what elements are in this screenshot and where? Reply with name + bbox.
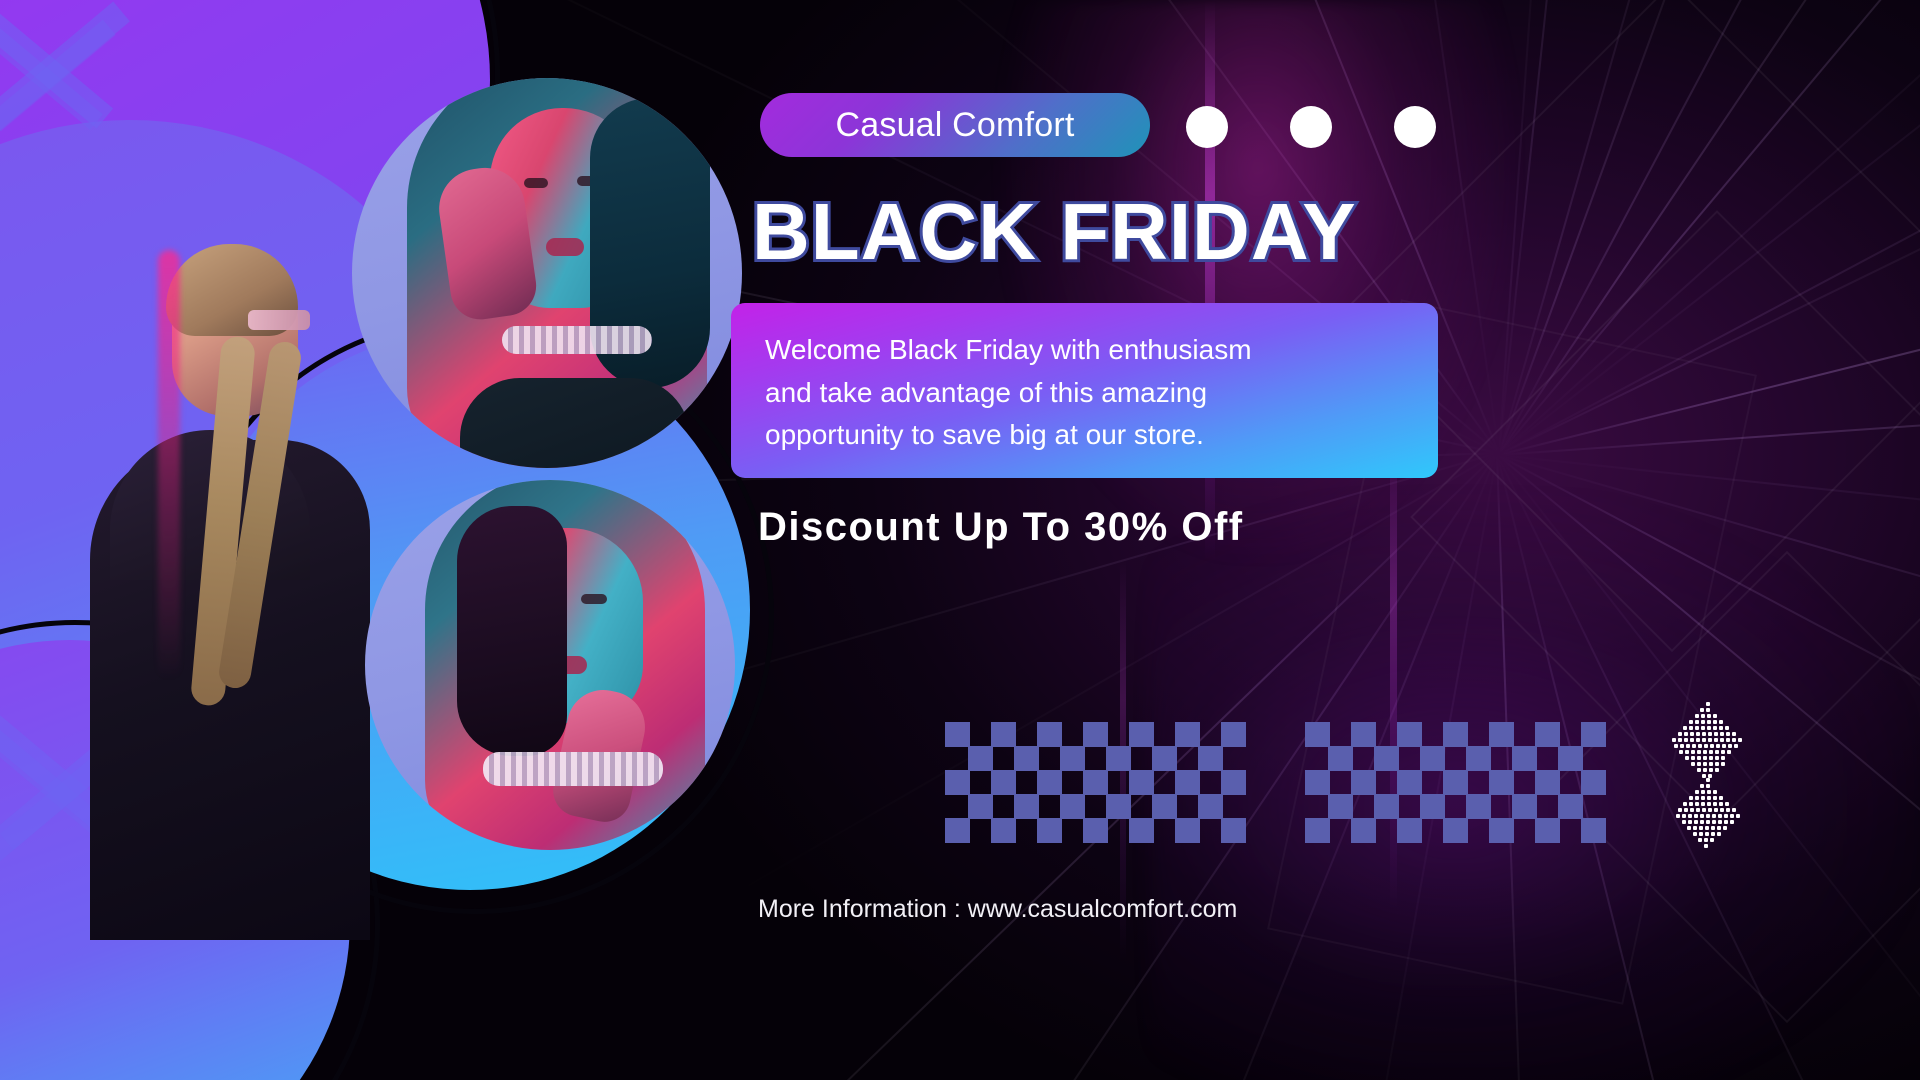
- diamond-dot: [1730, 814, 1734, 818]
- checker-square: [1581, 818, 1606, 843]
- diamond-dot: [1720, 732, 1724, 736]
- checker-square: [1014, 746, 1039, 771]
- diamond-dot: [1711, 826, 1715, 830]
- checker-square: [1443, 818, 1468, 843]
- diamond-dot: [1732, 808, 1736, 812]
- diamond-dot: [1710, 838, 1714, 842]
- diamond-dot: [1686, 744, 1690, 748]
- diamond-dot: [1726, 738, 1730, 742]
- diamond-dot: [1727, 750, 1731, 754]
- checker-square: [1305, 818, 1330, 843]
- diamond-dot: [1726, 732, 1730, 736]
- brand-pill[interactable]: Casual Comfort: [760, 93, 1150, 157]
- diamond-dot: [1696, 732, 1700, 736]
- footer-more-information: More Information : www.casualcomfort.com: [758, 895, 1237, 924]
- diamond-dot: [1701, 720, 1705, 724]
- diamond-dot: [1719, 720, 1723, 724]
- diamond-dot: [1717, 832, 1721, 836]
- diamond-dot: [1715, 762, 1719, 766]
- diamond-dot: [1687, 826, 1691, 830]
- checker-square: [1037, 818, 1062, 843]
- model-portrait-bottom: [365, 480, 735, 850]
- dotted-diamond-icon: [1668, 700, 1748, 840]
- diamond-dot: [1692, 744, 1696, 748]
- checker-square: [1581, 770, 1606, 795]
- model-photo-hoodie: [80, 240, 410, 940]
- diamond-dot: [1724, 814, 1728, 818]
- checker-square: [1106, 794, 1131, 819]
- diamond-dot: [1713, 714, 1717, 718]
- dot-2: [1290, 106, 1332, 148]
- diamond-dot: [1721, 762, 1725, 766]
- checker-square: [991, 770, 1016, 795]
- checker-square: [1305, 770, 1330, 795]
- diamond-dot: [1684, 738, 1688, 742]
- diamond-dot: [1697, 768, 1701, 772]
- diamond-dot: [1695, 790, 1699, 794]
- brand-label: Casual Comfort: [836, 106, 1075, 145]
- checker-square: [991, 818, 1016, 843]
- checker-square: [968, 794, 993, 819]
- diamond-dot: [1682, 814, 1686, 818]
- diamond-dot: [1684, 808, 1688, 812]
- checker-square: [1129, 818, 1154, 843]
- diamond-dot: [1689, 726, 1693, 730]
- diamond-dot: [1719, 802, 1723, 806]
- checker-square: [1083, 818, 1108, 843]
- diamond-dot: [1674, 744, 1678, 748]
- diamond-dot: [1694, 820, 1698, 824]
- checker-square: [1037, 770, 1062, 795]
- checker-square: [1512, 746, 1537, 771]
- diamond-dot: [1719, 796, 1723, 800]
- diamond-dot: [1683, 726, 1687, 730]
- checker-square: [1397, 818, 1422, 843]
- diamond-dot: [1707, 802, 1711, 806]
- diamond-dot: [1690, 738, 1694, 742]
- checker-square: [1152, 794, 1177, 819]
- diamond-dot: [1715, 768, 1719, 772]
- diamond-dot: [1689, 802, 1693, 806]
- diamond-dot: [1703, 768, 1707, 772]
- checker-square: [1420, 746, 1445, 771]
- diamond-dot: [1713, 720, 1717, 724]
- description-line-2: and take advantage of this amazing: [765, 372, 1404, 415]
- diamond-dot: [1701, 726, 1705, 730]
- checker-square: [1489, 818, 1514, 843]
- diamond-dot: [1732, 732, 1736, 736]
- checker-square: [1489, 722, 1514, 747]
- checker-square: [1351, 722, 1376, 747]
- diamond-dot: [1691, 756, 1695, 760]
- diamond-dot: [1715, 750, 1719, 754]
- checkerboard-pattern-left: [945, 722, 1275, 842]
- checker-square: [1397, 770, 1422, 795]
- diamond-dot: [1721, 756, 1725, 760]
- checker-square: [1198, 794, 1223, 819]
- description-line-1: Welcome Black Friday with enthusiasm: [765, 329, 1404, 372]
- checker-square: [1129, 722, 1154, 747]
- diamond-dot: [1703, 756, 1707, 760]
- checker-square: [1466, 746, 1491, 771]
- checker-square: [1129, 770, 1154, 795]
- diamond-dot: [1705, 832, 1709, 836]
- diamond-dot: [1701, 790, 1705, 794]
- diamond-dot: [1708, 808, 1712, 812]
- diamond-dot: [1720, 738, 1724, 742]
- diamond-dot: [1726, 808, 1730, 812]
- diamond-dot: [1702, 732, 1706, 736]
- diamond-dot: [1689, 720, 1693, 724]
- diamond-dot: [1697, 762, 1701, 766]
- diamond-dot: [1701, 802, 1705, 806]
- diamond-dot: [1725, 726, 1729, 730]
- diamond-dot: [1703, 762, 1707, 766]
- diamond-dot: [1688, 820, 1692, 824]
- diamond-dot: [1707, 720, 1711, 724]
- diamond-dot: [1738, 738, 1742, 742]
- diamond-dot: [1707, 726, 1711, 730]
- diamond-dot: [1695, 720, 1699, 724]
- diamond-dot: [1709, 762, 1713, 766]
- checker-square: [1083, 722, 1108, 747]
- checker-square: [968, 746, 993, 771]
- diamond-dot: [1691, 762, 1695, 766]
- diamond-dot: [1683, 802, 1687, 806]
- diamond-dot: [1730, 820, 1734, 824]
- chevron-arrow-icon: [0, 0, 220, 210]
- diamond-dot: [1679, 750, 1683, 754]
- diamond-dot: [1694, 814, 1698, 818]
- diamond-dot: [1706, 814, 1710, 818]
- diamond-dot: [1736, 814, 1740, 818]
- dot-decoration: [1186, 106, 1436, 148]
- diamond-dot: [1720, 808, 1724, 812]
- diamond-dot: [1715, 756, 1719, 760]
- diamond-dot: [1690, 732, 1694, 736]
- diamond-dot: [1721, 750, 1725, 754]
- checker-square: [1221, 722, 1246, 747]
- checker-square: [1014, 794, 1039, 819]
- diamond-dot: [1717, 826, 1721, 830]
- checker-square: [1305, 722, 1330, 747]
- checker-square: [1397, 722, 1422, 747]
- diamond-dot: [1712, 820, 1716, 824]
- checker-square: [1152, 746, 1177, 771]
- diamond-dot: [1723, 826, 1727, 830]
- diamond-dot: [1707, 714, 1711, 718]
- diamond-dot: [1678, 732, 1682, 736]
- diamond-dot: [1706, 784, 1710, 788]
- diamond-dot: [1709, 768, 1713, 772]
- diamond-dot: [1691, 750, 1695, 754]
- diamond-dot: [1689, 796, 1693, 800]
- diamond-dot: [1698, 838, 1702, 842]
- checker-square: [1558, 746, 1583, 771]
- headline-text: BLACK FRIDAY: [752, 187, 1357, 276]
- diamond-dot: [1714, 732, 1718, 736]
- diamond-dot: [1701, 714, 1705, 718]
- diamond-dot: [1711, 832, 1715, 836]
- diamond-dot: [1695, 726, 1699, 730]
- checker-square: [1558, 794, 1583, 819]
- diamond-dot: [1685, 756, 1689, 760]
- diamond-dot: [1728, 744, 1732, 748]
- checker-square: [1175, 818, 1200, 843]
- diamond-dot: [1708, 732, 1712, 736]
- diamond-dot: [1713, 796, 1717, 800]
- diamond-dot: [1695, 802, 1699, 806]
- diamond-dot: [1672, 738, 1676, 742]
- diamond-dot: [1704, 844, 1708, 848]
- diamond-dot: [1682, 820, 1686, 824]
- diamond-dot: [1714, 808, 1718, 812]
- diamond-dot: [1716, 744, 1720, 748]
- checker-square: [1060, 746, 1085, 771]
- checker-square: [1328, 746, 1353, 771]
- checker-square: [1221, 770, 1246, 795]
- checker-square: [1535, 818, 1560, 843]
- diamond-dot: [1706, 820, 1710, 824]
- checker-square: [945, 770, 970, 795]
- diamond-dot: [1701, 796, 1705, 800]
- diamond-dot: [1676, 814, 1680, 818]
- diamond-dot: [1724, 820, 1728, 824]
- diamond-dot: [1703, 750, 1707, 754]
- diamond-dot: [1725, 802, 1729, 806]
- diamond-dot: [1697, 750, 1701, 754]
- diamond-dot: [1700, 708, 1704, 712]
- black-friday-promo-banner: Casual Comfort BLACK FRIDAY Welcome Blac…: [0, 0, 1920, 1080]
- diamond-dot: [1685, 750, 1689, 754]
- checkerboard-pattern-right: [1305, 722, 1635, 842]
- checker-square: [1374, 794, 1399, 819]
- diamond-dot: [1696, 808, 1700, 812]
- diamond-dot: [1713, 726, 1717, 730]
- diamond-dot: [1678, 738, 1682, 742]
- diamond-dot: [1700, 814, 1704, 818]
- diamond-dot: [1684, 732, 1688, 736]
- diamond-dot: [1699, 826, 1703, 830]
- diamond-dot: [1706, 778, 1710, 782]
- diamond-dot: [1713, 802, 1717, 806]
- checker-square: [1443, 722, 1468, 747]
- diamond-dot: [1702, 738, 1706, 742]
- checker-square: [945, 722, 970, 747]
- checker-square: [1581, 722, 1606, 747]
- diamond-dot: [1705, 826, 1709, 830]
- diamond-dot: [1734, 744, 1738, 748]
- checker-square: [1060, 794, 1085, 819]
- diamond-dot: [1709, 750, 1713, 754]
- checker-square: [1443, 770, 1468, 795]
- checker-square: [1106, 746, 1131, 771]
- description-card: Welcome Black Friday with enthusiasm and…: [731, 303, 1438, 478]
- checker-square: [1328, 794, 1353, 819]
- diamond-dot: [1710, 744, 1714, 748]
- diamond-dot: [1718, 820, 1722, 824]
- model-portrait-top: [352, 78, 742, 468]
- checker-square: [1351, 818, 1376, 843]
- checker-square: [1221, 818, 1246, 843]
- diamond-dot: [1704, 838, 1708, 842]
- page-title: BLACK FRIDAY: [752, 186, 1452, 270]
- diamond-dot: [1698, 744, 1702, 748]
- checker-square: [1351, 770, 1376, 795]
- diamond-dot: [1713, 790, 1717, 794]
- discount-headline: Discount Up To 30% Off: [758, 505, 1244, 550]
- diamond-dot: [1722, 744, 1726, 748]
- diamond-dot: [1693, 826, 1697, 830]
- diamond-dot: [1700, 784, 1704, 788]
- checker-square: [1037, 722, 1062, 747]
- diamond-dot: [1700, 820, 1704, 824]
- checker-square: [1083, 770, 1108, 795]
- diamond-dot: [1695, 796, 1699, 800]
- dot-1: [1186, 106, 1228, 148]
- checker-square: [1374, 746, 1399, 771]
- diamond-dot: [1714, 738, 1718, 742]
- diamond-dot: [1690, 808, 1694, 812]
- diamond-dot: [1678, 808, 1682, 812]
- diamond-dot: [1707, 796, 1711, 800]
- checker-square: [1535, 770, 1560, 795]
- checker-square: [1489, 770, 1514, 795]
- diamond-dot: [1697, 756, 1701, 760]
- checker-square: [1466, 794, 1491, 819]
- checker-square: [1535, 722, 1560, 747]
- checker-square: [945, 818, 970, 843]
- diamond-dot: [1707, 790, 1711, 794]
- checker-square: [991, 722, 1016, 747]
- checker-square: [1420, 794, 1445, 819]
- diamond-dot: [1719, 726, 1723, 730]
- diamond-dot: [1706, 708, 1710, 712]
- diamond-dot: [1718, 814, 1722, 818]
- diamond-dot: [1688, 814, 1692, 818]
- diamond-dot: [1704, 744, 1708, 748]
- diamond-dot: [1706, 702, 1710, 706]
- diamond-dot: [1702, 808, 1706, 812]
- diamond-dot: [1712, 814, 1716, 818]
- description-line-3: opportunity to save big at our store.: [765, 414, 1404, 457]
- checker-square: [1175, 722, 1200, 747]
- checker-square: [1175, 770, 1200, 795]
- diamond-dot: [1708, 738, 1712, 742]
- diamond-dot: [1680, 744, 1684, 748]
- diamond-dot: [1693, 832, 1697, 836]
- diamond-dot: [1695, 714, 1699, 718]
- diamond-dot: [1696, 738, 1700, 742]
- dot-3: [1394, 106, 1436, 148]
- checker-square: [1198, 746, 1223, 771]
- diamond-dot: [1732, 738, 1736, 742]
- diamond-dot: [1699, 832, 1703, 836]
- diamond-dot: [1709, 756, 1713, 760]
- checker-square: [1512, 794, 1537, 819]
